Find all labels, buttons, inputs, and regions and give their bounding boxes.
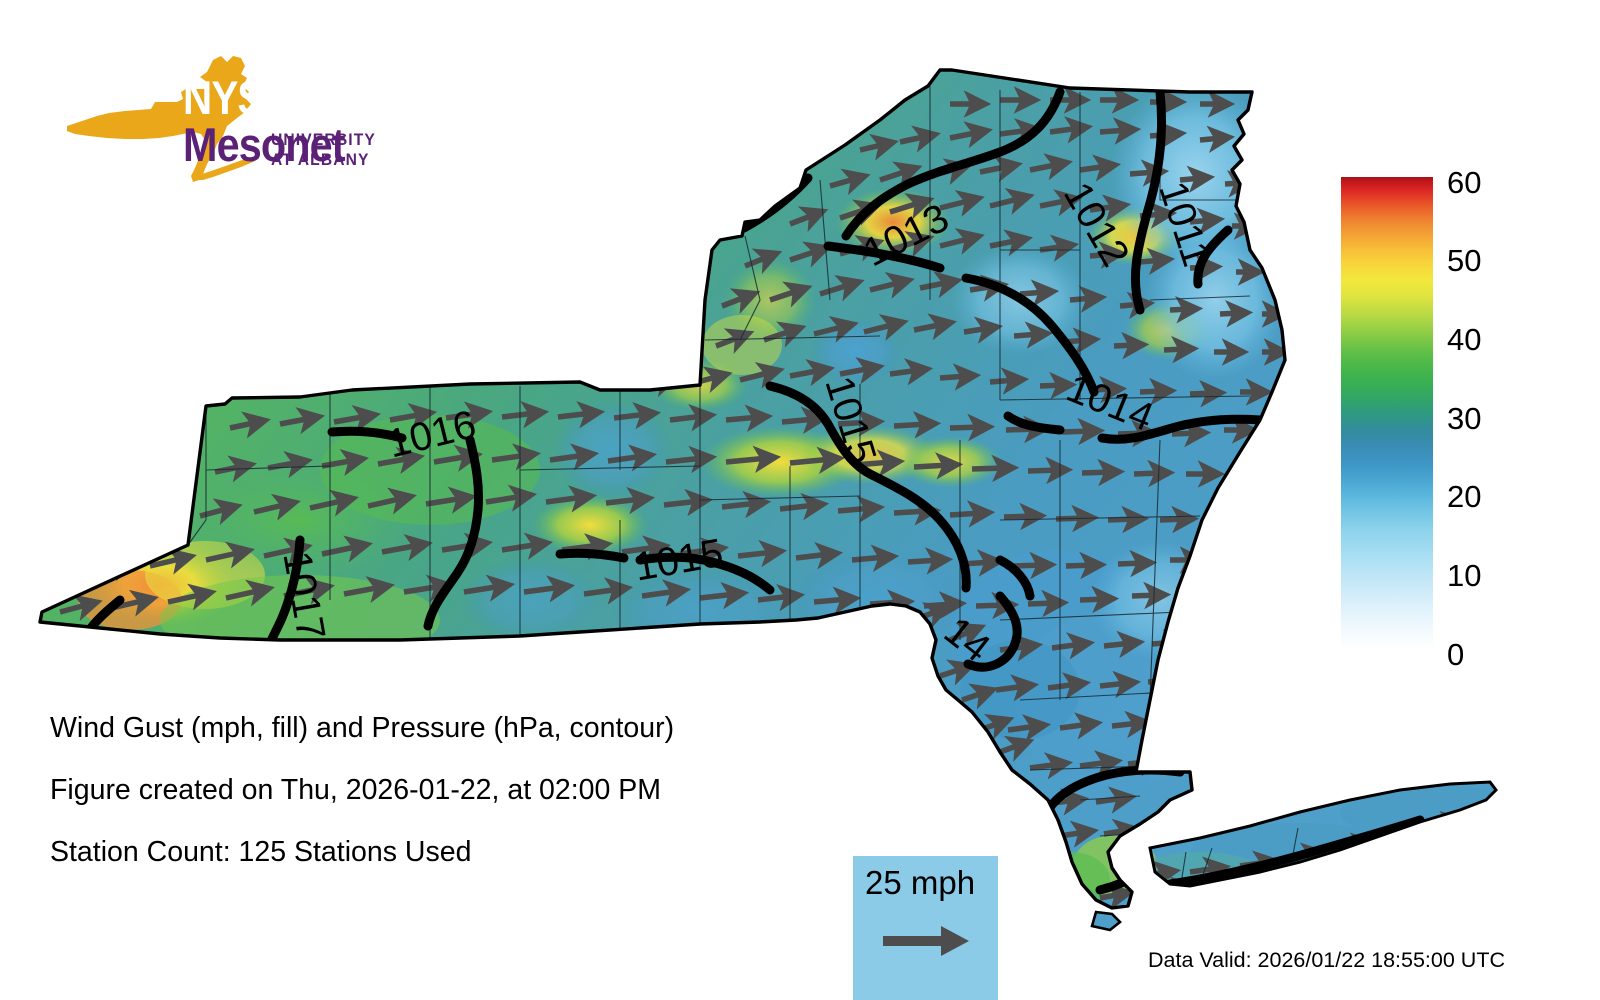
wind-scale-label: 25 mph xyxy=(865,864,975,902)
colorbar-tick-labels: 60 50 40 30 20 10 0 xyxy=(1447,163,1537,663)
colorbar-tick-60: 60 xyxy=(1447,167,1481,198)
colorbar-gradient xyxy=(1341,177,1433,649)
colorbar-tick-20: 20 xyxy=(1447,481,1481,512)
colorbar-tick-50: 50 xyxy=(1447,245,1481,276)
data-valid-timestamp: Data Valid: 2026/01/22 18:55:00 UTC xyxy=(1148,948,1505,973)
colorbar-tick-10: 10 xyxy=(1447,560,1481,591)
wind-scale-legend: 25 mph xyxy=(853,856,998,1000)
wind-scale-arrow-icon xyxy=(881,918,973,964)
caption-title: Wind Gust (mph, fill) and Pressure (hPa,… xyxy=(50,712,810,745)
caption-created: Figure created on Thu, 2026-01-22, at 02… xyxy=(50,774,810,807)
colorbar-tick-40: 40 xyxy=(1447,324,1481,355)
logo-subtitle: UNIVERSITY AT ALBANY xyxy=(271,130,394,170)
weather-map-figure: 1013 1012 1011 1016 1017 1015 1015 1014 … xyxy=(0,0,1600,1000)
colorbar-tick-30: 30 xyxy=(1447,403,1481,434)
caption-station-count: Station Count: 125 Stations Used xyxy=(50,836,810,869)
wind-gust-colorbar xyxy=(1341,177,1433,649)
nys-mesonet-logo: NYSMesonet UNIVERSITY AT ALBANY xyxy=(55,52,405,182)
logo-nys-text: NYS xyxy=(183,74,264,121)
figure-caption: Wind Gust (mph, fill) and Pressure (hPa,… xyxy=(50,712,810,898)
colorbar-tick-0: 0 xyxy=(1447,639,1464,670)
